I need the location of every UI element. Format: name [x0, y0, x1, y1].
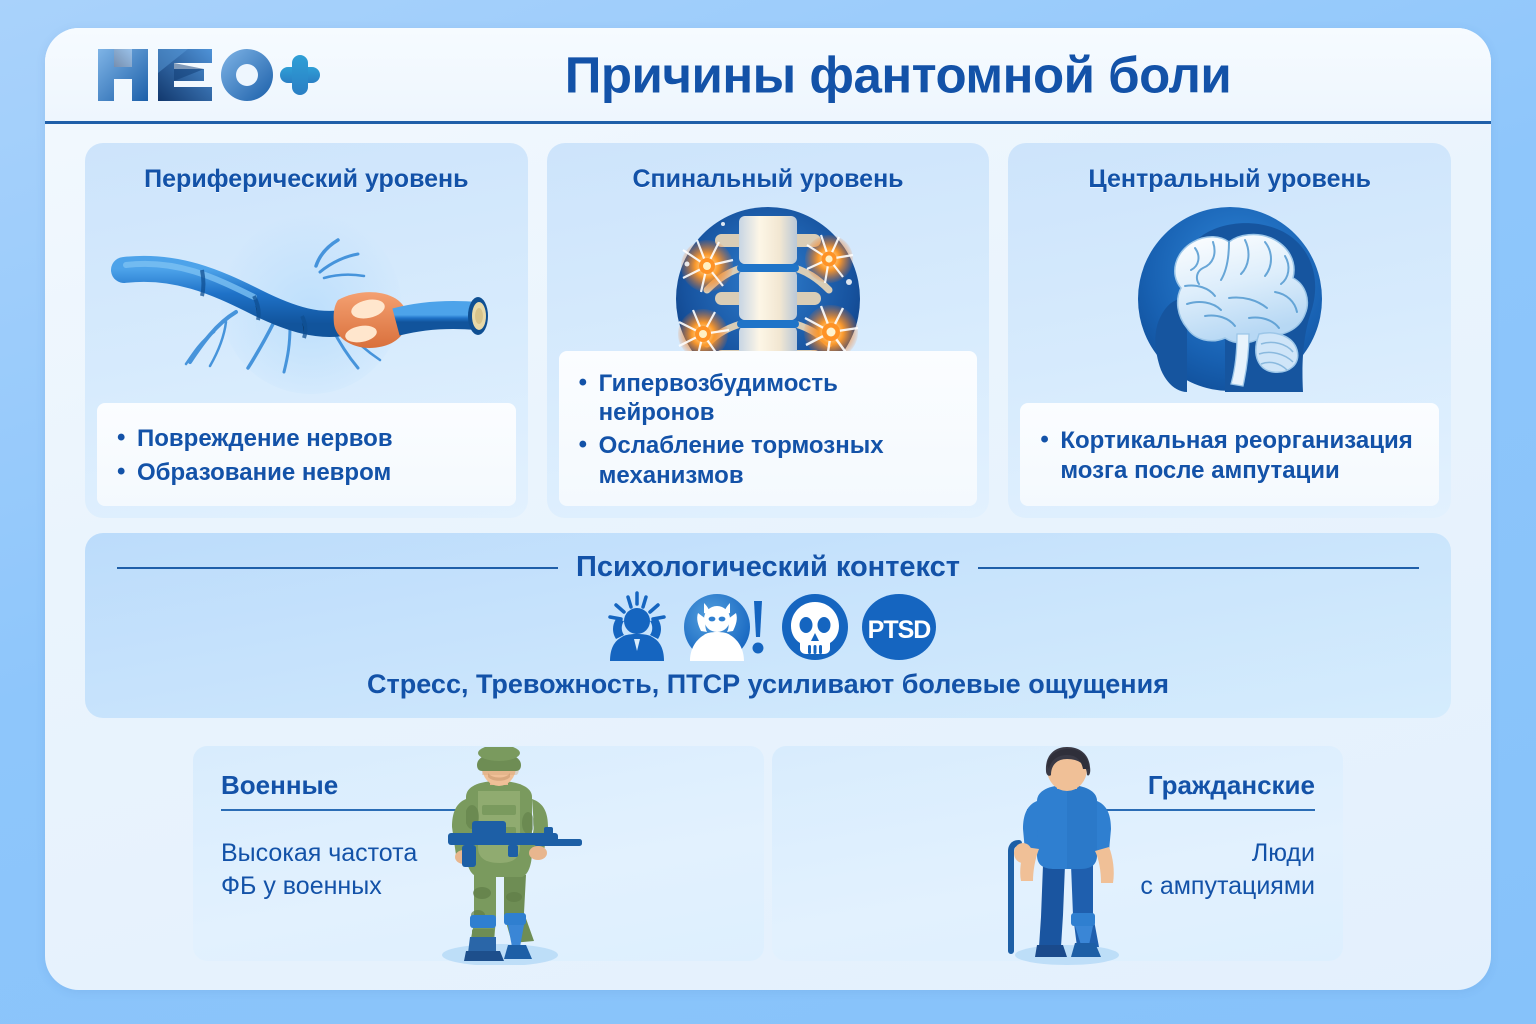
card-bullet-list: Гипервозбудимость нейронов Ослабление то… [559, 351, 978, 506]
card-peripheral-level[interactable]: Периферический уровень [85, 143, 528, 518]
nerve-neuroma-icon [85, 201, 528, 396]
stressed-person-icon [598, 591, 676, 663]
group-civilian[interactable]: Гражданские Люди с ампутациями [772, 746, 1343, 961]
bullet-item: Гипервозбудимость нейронов [577, 369, 960, 428]
card-title: Спинальный уровень [547, 165, 990, 194]
group-description-line1: Высокая частота [221, 839, 417, 867]
group-divider [221, 809, 509, 811]
group-title: Военные [221, 770, 736, 801]
psychological-icon-row: PTSD [85, 591, 1451, 663]
group-title: Гражданские [800, 770, 1315, 801]
population-groups-row: Военные Высокая частота ФБ у военных [193, 746, 1343, 961]
page-title: Причины фантомной боли [345, 45, 1451, 104]
group-description-line1: Люди [1252, 839, 1315, 867]
card-spinal-level[interactable]: Спинальный уровень [547, 143, 990, 518]
card-title: Центральный уровень [1008, 165, 1451, 194]
group-description: Люди с ампутациями [800, 837, 1315, 902]
heading-rule-left [117, 567, 558, 569]
card-bullet-list: Кортикальная реорганизация мозга после а… [1020, 403, 1439, 506]
skull-icon [778, 591, 852, 663]
group-content: Гражданские Люди с ампутациями [772, 746, 1343, 961]
bullet-item: Образование невром [115, 458, 498, 487]
section-title: Психологический контекст [576, 551, 960, 584]
svg-text:PTSD: PTSD [868, 616, 931, 644]
group-content: Военные Высокая частота ФБ у военных [193, 746, 764, 961]
exclamation-mark [753, 601, 764, 654]
group-description-line2: ФБ у военных [221, 870, 736, 903]
group-military[interactable]: Военные Высокая частота ФБ у военных [193, 746, 764, 961]
group-description: Высокая частота ФБ у военных [221, 837, 736, 902]
brain-head-icon [1008, 201, 1451, 396]
bullet-item: Повреждение нервов [115, 424, 498, 453]
heading-rule-right [978, 567, 1419, 569]
anxious-person-exclamation-icon [684, 591, 770, 663]
card-title: Периферический уровень [85, 165, 528, 194]
bullet-item: Ослабление тормозных механизмов [577, 431, 960, 490]
card-bullet-list: Повреждение нервов Образование невром [97, 403, 516, 506]
brand-logo [92, 42, 322, 106]
header-bar: Причины фантомной боли [45, 28, 1491, 124]
bullet-item: Кортикальная реорганизация мозга после а… [1038, 426, 1421, 485]
group-divider [1027, 809, 1315, 811]
psychological-context-caption: Стресс, Тревожность, ПТСР усиливают боле… [85, 669, 1451, 700]
infographic-panel: Причины фантомной боли Периферический ур… [45, 28, 1491, 990]
card-central-level[interactable]: Центральный уровень [1008, 143, 1451, 518]
psychological-context-section: Психологический контекст [85, 533, 1451, 718]
neo-plus-logo-icon [92, 43, 322, 105]
level-cards-row: Периферический уровень [85, 143, 1451, 518]
ptsd-badge-icon: PTSD [860, 591, 938, 663]
psychological-context-heading: Психологический контекст [117, 551, 1419, 584]
group-description-line2: с ампутациями [800, 870, 1315, 903]
